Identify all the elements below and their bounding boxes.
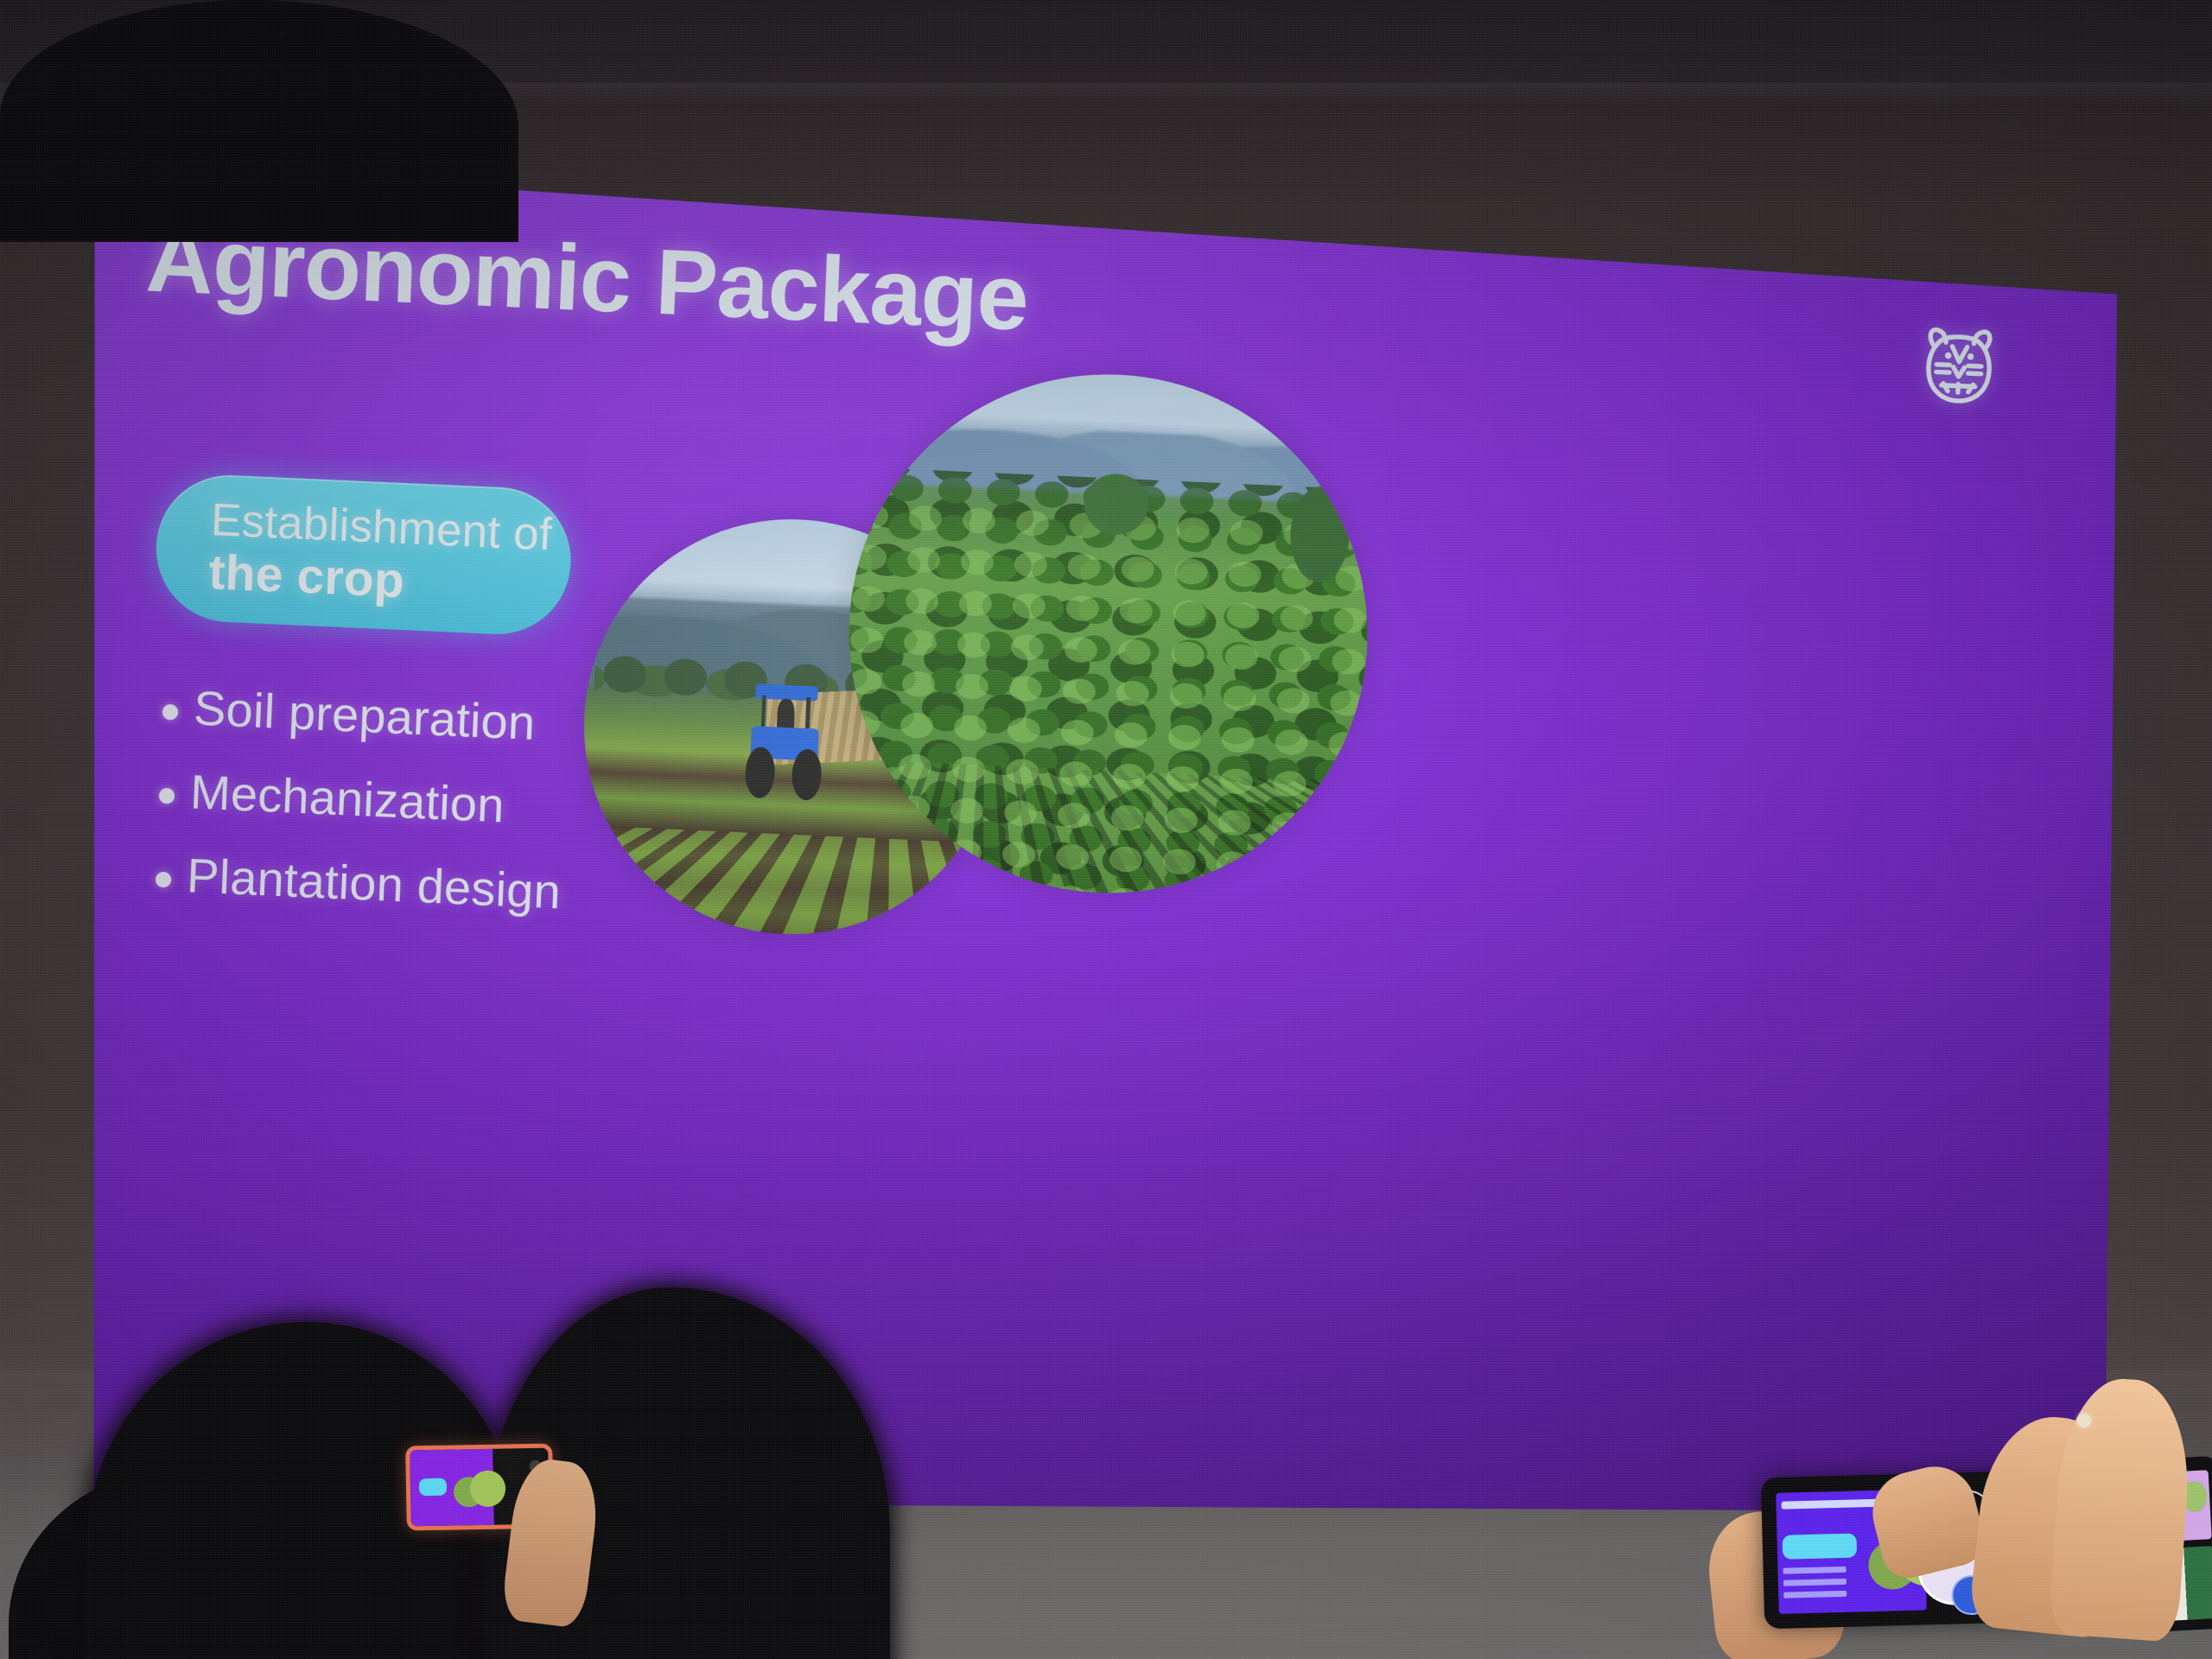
bullet-dot-icon [162,704,179,721]
establishment-pill: Establishment of the crop [153,472,573,637]
slide-content: Agronomic Package [91,142,2107,1512]
coffee-plantation-image [839,363,1378,904]
tractor-wheel-left [744,746,776,798]
list-item: Plantation design [155,849,562,918]
list-item-label: Plantation design [186,850,562,918]
bullet-dot-icon [159,788,175,804]
right-tree [1275,465,1363,603]
list-item: Mechanization [158,766,565,835]
projection-area: Agronomic Package [0,0,2212,1659]
list-item-label: Soil preparation [193,683,536,748]
bullet-list: Soil preparation Mechanization Plantatio… [154,682,569,950]
page-title: Agronomic Package [144,212,1030,344]
center-tree [1071,461,1162,547]
tractor [747,683,823,798]
coffee-plantation-photo [839,363,1378,904]
list-item: Soil preparation [162,682,569,751]
list-item-label: Mechanization [189,766,505,831]
tiger-head-logo [1910,317,2007,415]
bullet-dot-icon [156,871,172,887]
projected-slide: Agronomic Package [91,130,2117,1512]
screenshot-stage: Agronomic Package [0,0,2212,1659]
